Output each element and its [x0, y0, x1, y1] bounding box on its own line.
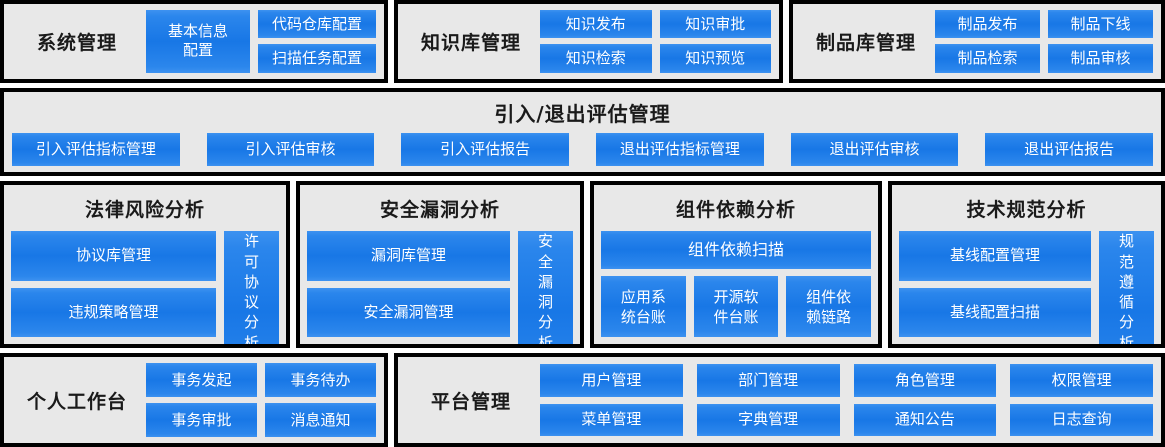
button-vulnerability-library-mgmt[interactable]: 漏洞库管理 [307, 231, 510, 280]
panel-personal-workbench: 个人工作台 事务发起 事务待办 事务审批 消息通知 [0, 353, 388, 447]
button-baseline-config-mgmt[interactable]: 基线配置管理 [899, 231, 1091, 280]
panel-title-entry-exit-evaluation: 引入/退出评估管理 [12, 98, 1153, 127]
button-security-vulnerability-mgmt[interactable]: 安全漏洞管理 [307, 288, 510, 337]
button-product-search[interactable]: 制品检索 [935, 44, 1040, 72]
panel-entry-exit-evaluation: 引入/退出评估管理 引入评估指标管理 引入评估审核 引入评估报告 退出评估指标管… [0, 88, 1165, 177]
row-workbench-platform: 个人工作台 事务发起 事务待办 事务审批 消息通知 平台管理 用户管理 部门管理… [0, 353, 1165, 447]
button-agreement-library-mgmt[interactable]: 协议库管理 [11, 231, 216, 280]
panel-legal-risk-analysis: 法律风险分析 协议库管理 违规策略管理 许可协议扫描 许 可 协 议 分 析 报… [0, 181, 290, 348]
panel-title-legal-risk-analysis: 法律风险分析 [11, 195, 279, 222]
legal-risk-buttons: 协议库管理 违规策略管理 许可协议扫描 [11, 231, 216, 348]
button-product-publish[interactable]: 制品发布 [935, 10, 1040, 38]
row-analysis-modules: 法律风险分析 协议库管理 违规策略管理 许可协议扫描 许 可 协 议 分 析 报… [0, 181, 1165, 348]
button-exit-eval-report[interactable]: 退出评估报告 [985, 133, 1153, 166]
panel-system-management: 系统管理 基本信息 配置 代码仓库配置 扫描任务配置 [0, 0, 388, 83]
panel-security-vulnerability-analysis: 安全漏洞分析 漏洞库管理 安全漏洞管理 安全漏洞扫描 安 全 漏 洞 分 析 报… [296, 181, 584, 348]
button-entry-eval-review[interactable]: 引入评估审核 [207, 133, 375, 166]
panel-title-platform-management: 平台管理 [404, 387, 532, 414]
component-dependency-buttons: 应用系 统台账 开源软 件台账 组件依 赖链路 [601, 276, 871, 337]
button-message-notification[interactable]: 消息通知 [265, 403, 376, 437]
button-menu-management[interactable]: 菜单管理 [540, 404, 683, 436]
row-top-management: 系统管理 基本信息 配置 代码仓库配置 扫描任务配置 知识库管理 知识发布 知识… [0, 0, 1165, 83]
panel-title-technical-specification-analysis: 技术规范分析 [899, 195, 1154, 222]
button-exit-eval-review[interactable]: 退出评估审核 [791, 133, 959, 166]
button-code-repo-config[interactable]: 代码仓库配置 [258, 10, 376, 38]
knowledge-base-buttons: 知识发布 知识审批 知识检索 知识预览 [540, 4, 773, 79]
row-evaluation-management: 引入/退出评估管理 引入评估指标管理 引入评估审核 引入评估报告 退出评估指标管… [0, 88, 1165, 177]
evaluation-buttons: 引入评估指标管理 引入评估审核 引入评估报告 退出评估指标管理 退出评估审核 退… [12, 133, 1153, 166]
button-exit-eval-indicator-mgmt[interactable]: 退出评估指标管理 [596, 133, 764, 166]
button-product-offline[interactable]: 制品下线 [1048, 10, 1153, 38]
button-task-approval[interactable]: 事务审批 [146, 403, 257, 437]
panel-platform-management: 平台管理 用户管理 部门管理 角色管理 权限管理 菜单管理 字典管理 通知公告 … [394, 353, 1165, 447]
button-department-management[interactable]: 部门管理 [697, 364, 840, 396]
button-application-system-ledger[interactable]: 应用系 统台账 [601, 276, 686, 337]
button-permission-management[interactable]: 权限管理 [1010, 364, 1153, 396]
button-specification-compliance-report[interactable]: 规 范 遵 循 分 析 报 告 [1099, 231, 1154, 348]
button-log-query[interactable]: 日志查询 [1010, 404, 1153, 436]
panel-title-system-management: 系统管理 [10, 28, 138, 55]
button-knowledge-approval[interactable]: 知识审批 [660, 10, 772, 38]
legal-risk-body: 协议库管理 违规策略管理 许可协议扫描 许 可 协 议 分 析 报 告 [11, 231, 279, 348]
button-config-difference-compare[interactable]: 配置差异比对 [899, 344, 1091, 348]
button-security-analysis-report[interactable]: 安 全 漏 洞 分 析 报 告 [518, 231, 573, 348]
button-scan-task-config[interactable]: 扫描任务配置 [258, 44, 376, 72]
panel-title-security-vulnerability-analysis: 安全漏洞分析 [307, 195, 573, 222]
panel-title-knowledge-base-management: 知识库管理 [404, 28, 532, 55]
panel-title-product-repo-management: 制品库管理 [799, 28, 927, 55]
product-repo-buttons: 制品发布 制品下线 制品检索 制品审核 [935, 4, 1155, 79]
personal-workbench-buttons: 事务发起 事务待办 事务审批 消息通知 [146, 357, 378, 443]
button-dictionary-management[interactable]: 字典管理 [697, 404, 840, 436]
button-security-vulnerability-scan[interactable]: 安全漏洞扫描 [307, 344, 510, 348]
system-management-buttons: 基本信息 配置 代码仓库配置 扫描任务配置 [146, 4, 378, 79]
button-knowledge-search[interactable]: 知识检索 [540, 44, 652, 72]
button-open-source-software-ledger[interactable]: 开源软 件台账 [694, 276, 779, 337]
panel-product-repo-management: 制品库管理 制品发布 制品下线 制品检索 制品审核 [789, 0, 1165, 83]
button-entry-eval-indicator-mgmt[interactable]: 引入评估指标管理 [12, 133, 180, 166]
button-product-audit[interactable]: 制品审核 [1048, 44, 1153, 72]
button-task-initiate[interactable]: 事务发起 [146, 363, 257, 397]
panel-knowledge-base-management: 知识库管理 知识发布 知识审批 知识检索 知识预览 [394, 0, 783, 83]
button-task-todo[interactable]: 事务待办 [265, 363, 376, 397]
button-license-analysis-report[interactable]: 许 可 协 议 分 析 报 告 [224, 231, 279, 348]
component-dependency-body: 组件依赖扫描 应用系 统台账 开源软 件台账 组件依 赖链路 [601, 231, 871, 337]
button-knowledge-publish[interactable]: 知识发布 [540, 10, 652, 38]
button-role-management[interactable]: 角色管理 [854, 364, 997, 396]
button-knowledge-preview[interactable]: 知识预览 [660, 44, 772, 72]
button-entry-eval-report[interactable]: 引入评估报告 [401, 133, 569, 166]
panel-title-personal-workbench: 个人工作台 [10, 387, 138, 414]
button-license-agreement-scan[interactable]: 许可协议扫描 [11, 344, 216, 348]
button-basic-info-config[interactable]: 基本信息 配置 [146, 10, 250, 73]
panel-technical-specification-analysis: 技术规范分析 基线配置管理 基线配置扫描 配置差异比对 规 范 遵 循 分 析 … [888, 181, 1165, 348]
security-vulnerability-buttons: 漏洞库管理 安全漏洞管理 安全漏洞扫描 [307, 231, 510, 348]
button-component-dependency-chain[interactable]: 组件依 赖链路 [786, 276, 871, 337]
panel-title-component-dependency-analysis: 组件依赖分析 [601, 195, 871, 222]
button-notice-announcement[interactable]: 通知公告 [854, 404, 997, 436]
button-violation-policy-mgmt[interactable]: 违规策略管理 [11, 288, 216, 337]
component-dependency-top: 组件依赖扫描 [601, 231, 871, 269]
platform-management-buttons: 用户管理 部门管理 角色管理 权限管理 菜单管理 字典管理 通知公告 日志查询 [540, 357, 1155, 443]
technical-specification-body: 基线配置管理 基线配置扫描 配置差异比对 规 范 遵 循 分 析 报 告 [899, 231, 1154, 348]
technical-specification-buttons: 基线配置管理 基线配置扫描 配置差异比对 [899, 231, 1091, 348]
button-user-management[interactable]: 用户管理 [540, 364, 683, 396]
panel-component-dependency-analysis: 组件依赖分析 组件依赖扫描 应用系 统台账 开源软 件台账 组件依 赖链路 [590, 181, 882, 348]
architecture-diagram: 系统管理 基本信息 配置 代码仓库配置 扫描任务配置 知识库管理 知识发布 知识… [0, 0, 1165, 447]
button-component-dependency-scan[interactable]: 组件依赖扫描 [601, 231, 871, 269]
security-vulnerability-body: 漏洞库管理 安全漏洞管理 安全漏洞扫描 安 全 漏 洞 分 析 报 告 [307, 231, 573, 348]
button-baseline-config-scan[interactable]: 基线配置扫描 [899, 288, 1091, 337]
